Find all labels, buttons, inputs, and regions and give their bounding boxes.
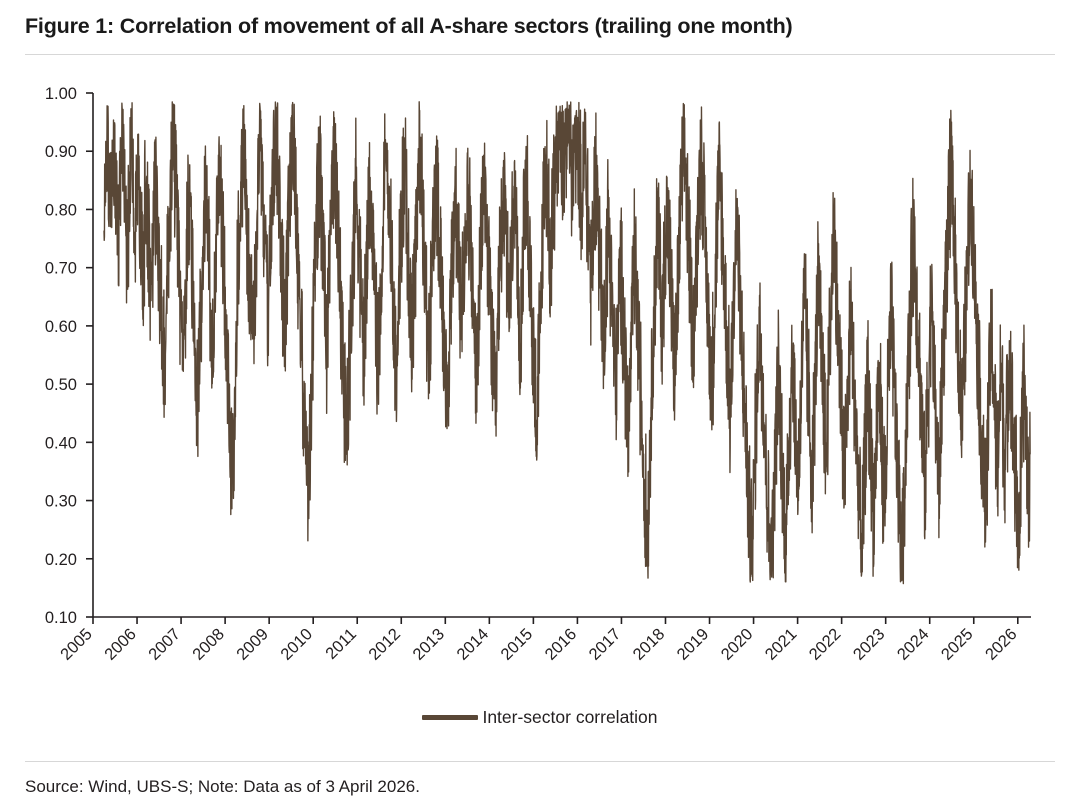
x-axis-tick-marks (93, 617, 1018, 624)
x-axis-label: 2015 (498, 625, 537, 664)
footer-divider (25, 761, 1055, 762)
legend-item-label: Inter-sector correlation (482, 707, 657, 728)
y-axis-label: 0.10 (45, 609, 77, 627)
x-axis-label: 2024 (894, 625, 933, 664)
x-axis-label: 2005 (57, 625, 96, 664)
y-axis-label: 0.60 (45, 318, 77, 336)
x-axis-label: 2020 (718, 625, 757, 664)
x-axis-label: 2012 (365, 625, 404, 664)
y-axis-label: 0.40 (45, 434, 77, 452)
x-axis-label: 2006 (101, 625, 140, 664)
figure-container: Figure 1: Correlation of movement of all… (0, 0, 1080, 812)
x-axis-label: 2025 (938, 625, 977, 664)
x-axis-label: 2023 (850, 625, 889, 664)
line-chart-svg: 1.000.900.800.700.600.500.400.300.200.10… (0, 60, 1080, 700)
legend-item-inter-sector-correlation: Inter-sector correlation (422, 707, 657, 728)
y-axis-label: 0.70 (45, 260, 77, 278)
legend-color-swatch (422, 715, 478, 720)
x-axis-label: 2008 (189, 625, 228, 664)
source-note: Source: Wind, UBS-S; Note: Data as of 3 … (25, 777, 420, 797)
x-axis-label: 2017 (586, 625, 625, 664)
y-axis-tick-labels: 1.000.900.800.700.600.500.400.300.200.10 (45, 85, 77, 627)
chart-plot-area: 1.000.900.800.700.600.500.400.300.200.10… (0, 60, 1080, 700)
x-axis-label: 2016 (542, 625, 581, 664)
title-divider (25, 54, 1055, 55)
y-axis-label: 0.30 (45, 493, 77, 511)
x-axis-label: 2021 (762, 625, 801, 664)
page-title: Figure 1: Correlation of movement of all… (25, 14, 1065, 39)
chart-legend: Inter-sector correlation (0, 700, 1080, 734)
y-axis-label: 1.00 (45, 85, 77, 103)
x-axis-label: 2013 (409, 625, 448, 664)
x-axis-label: 2010 (277, 625, 316, 664)
x-axis-tick-labels: 2005200620072008200920102011201220132014… (57, 625, 1020, 664)
y-axis-label: 0.20 (45, 551, 77, 569)
x-axis-label: 2026 (982, 625, 1021, 664)
x-axis-label: 2019 (674, 625, 713, 664)
y-axis-label: 0.50 (45, 376, 77, 394)
x-axis-label: 2011 (322, 625, 360, 663)
x-axis-label: 2007 (145, 625, 184, 664)
x-axis-label: 2009 (233, 625, 272, 664)
x-axis-label: 2018 (630, 625, 669, 664)
series-line-inter-sector-correlation (104, 102, 1030, 584)
x-axis-label: 2022 (806, 625, 845, 664)
y-axis-tick-marks (86, 93, 93, 617)
y-axis-label: 0.90 (45, 143, 77, 161)
y-axis-label: 0.80 (45, 201, 77, 219)
x-axis-label: 2014 (453, 625, 492, 664)
